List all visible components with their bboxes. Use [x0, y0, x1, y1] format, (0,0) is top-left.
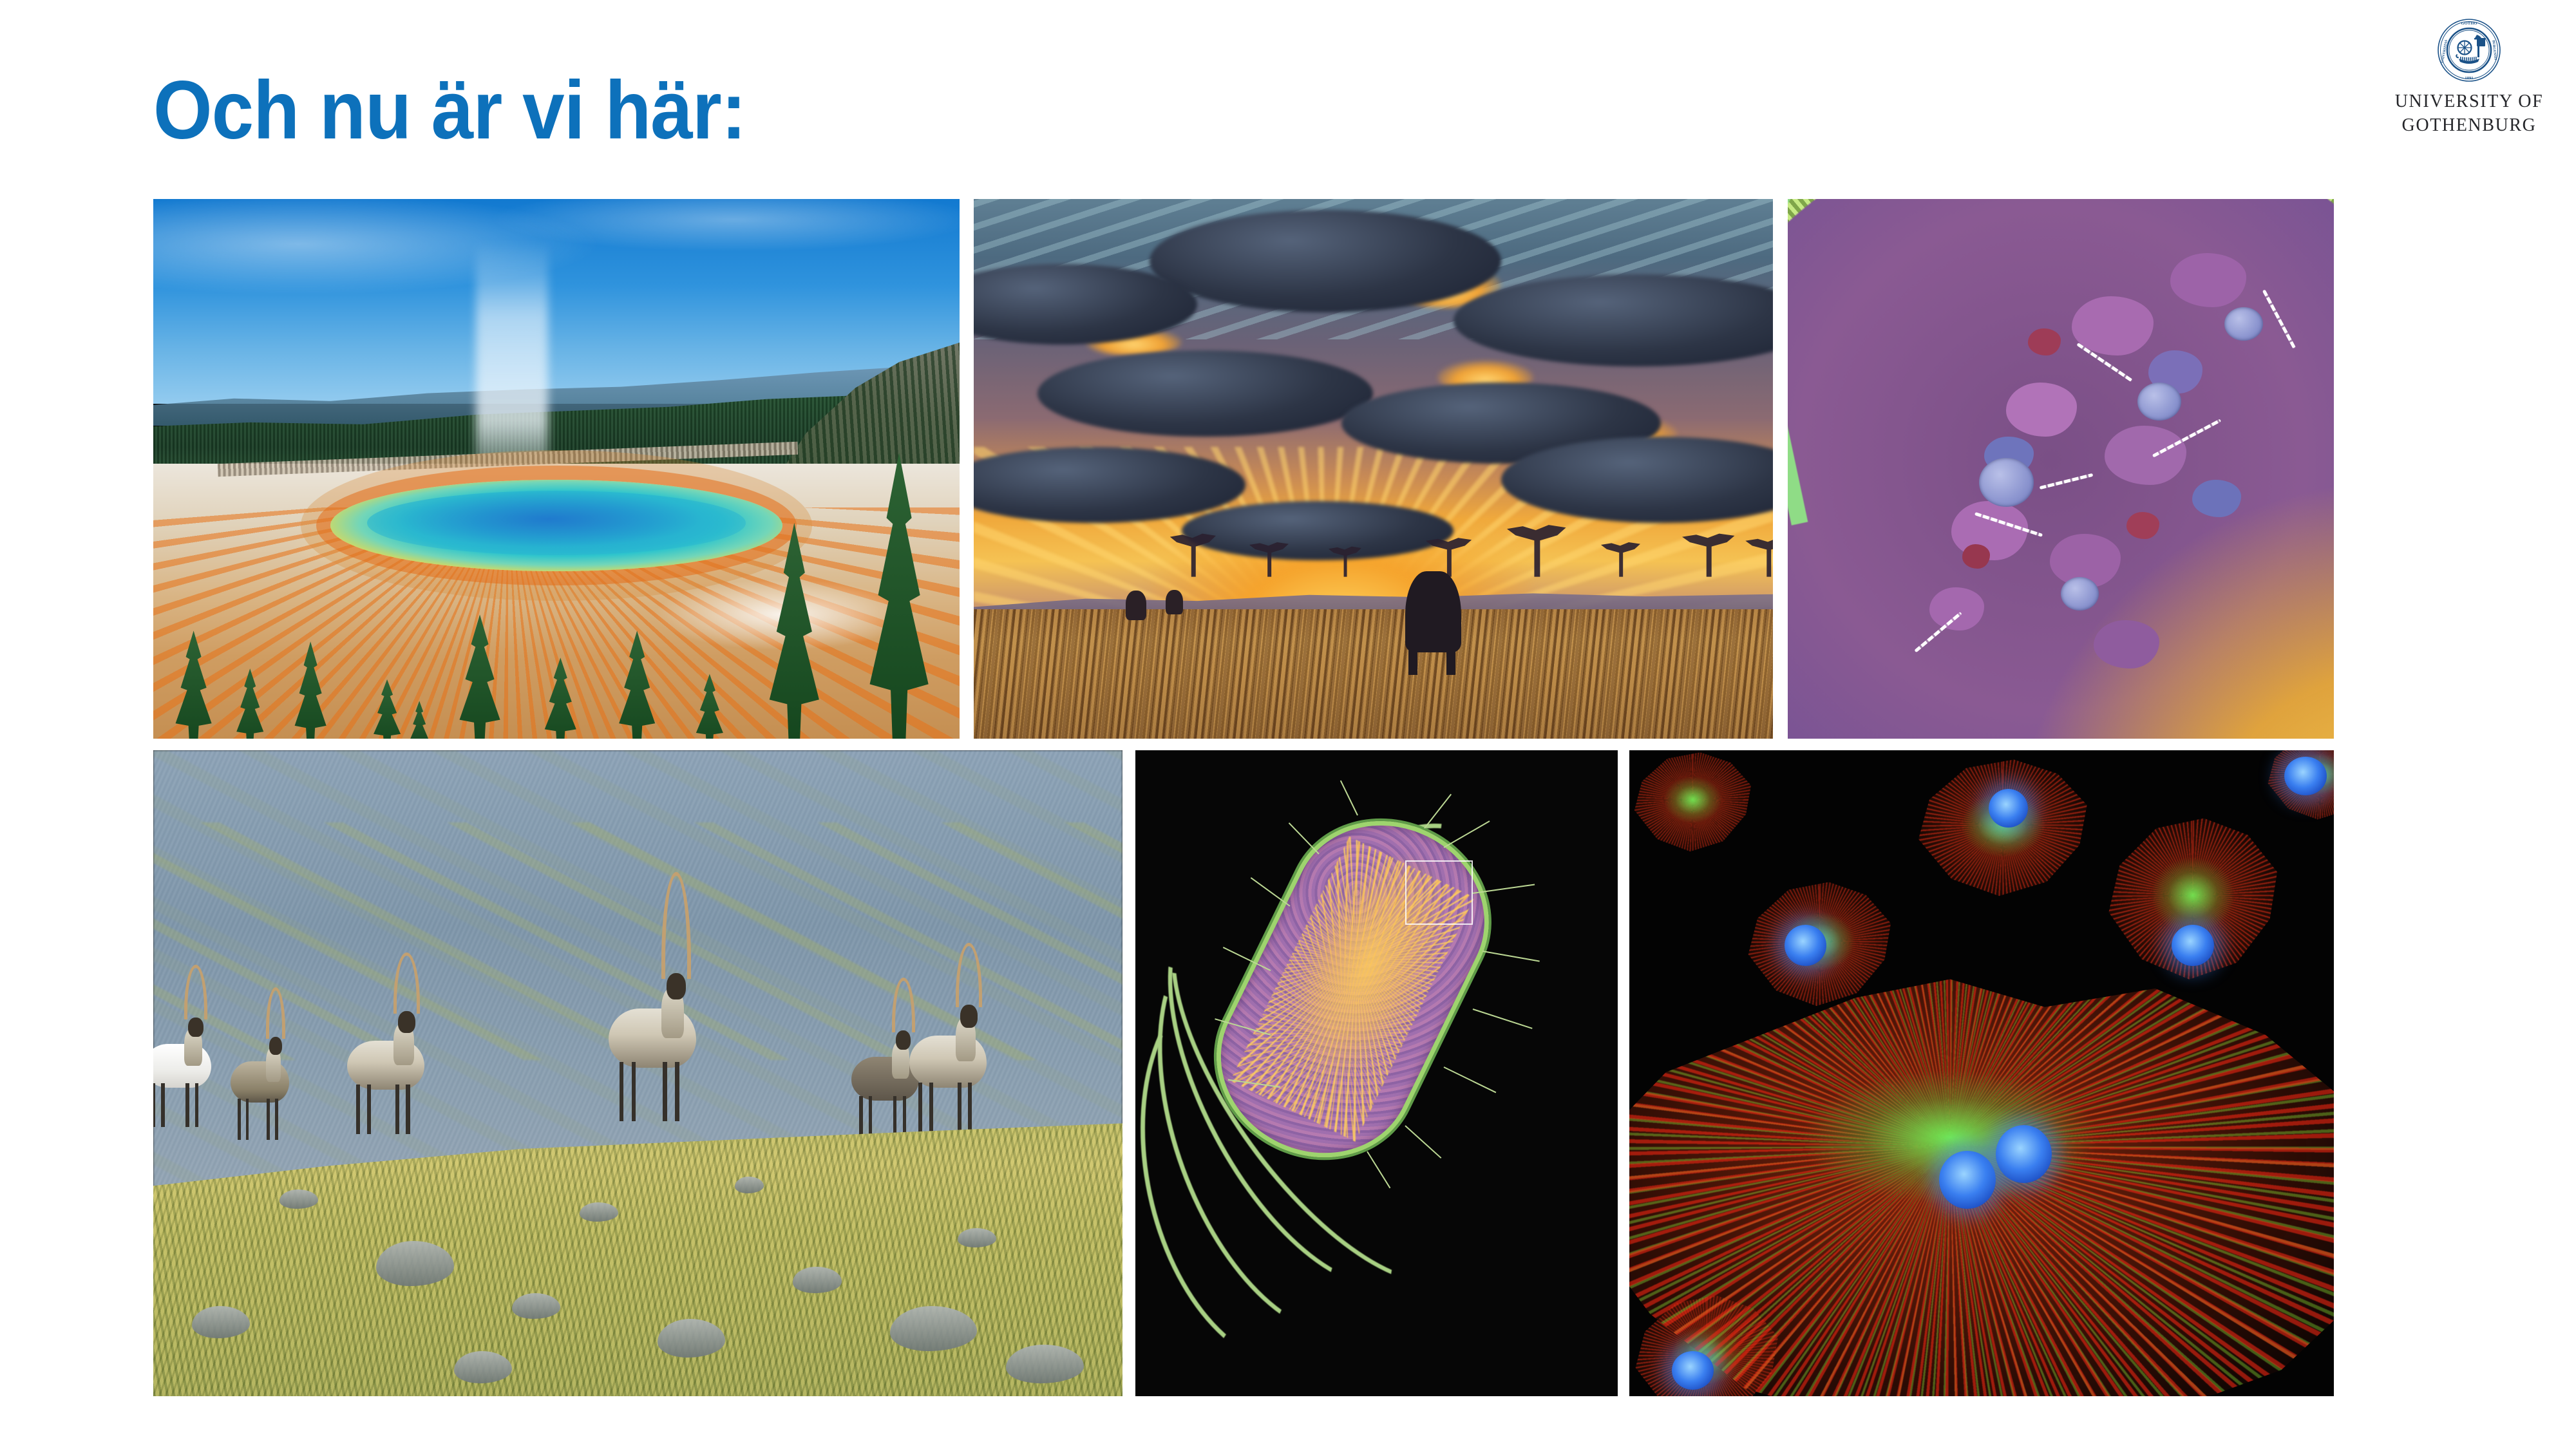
svg-text:· 1891 ·: · 1891 ·	[2463, 76, 2476, 80]
svg-text:· GOTHO ·: · GOTHO ·	[2459, 21, 2480, 26]
image-fluorescence-microscopy-cells	[1629, 750, 2334, 1396]
image-bacterial-cell-envelope-illustration	[1788, 199, 2334, 739]
image-african-savanna-sunset	[974, 199, 1773, 739]
svg-text:BURGENSIS: BURGENSIS	[2491, 40, 2497, 61]
university-logo: · GOTHO · · 1891 · UNIVERSITAS BURGENSIS…	[2362, 18, 2576, 179]
logo-wordmark-line2: GOTHENBURG	[2362, 114, 2576, 138]
image-grand-prismatic-spring	[153, 199, 960, 739]
highlight-box	[1405, 860, 1473, 925]
logo-wordmark-line1: UNIVERSITY OF	[2362, 90, 2576, 114]
image-reindeer-on-tundra	[153, 750, 1122, 1396]
page-title: Och nu är vi här:	[153, 70, 746, 152]
slide-canvas: Och nu är vi här: · GOTHO · · 1891 ·	[0, 0, 2576, 1449]
logo-wordmark: UNIVERSITY OF GOTHENBURG	[2362, 90, 2576, 138]
image-escherichia-coli-bacterium-illustration	[1135, 750, 1618, 1396]
university-seal-icon: · GOTHO · · 1891 · UNIVERSITAS BURGENSIS	[2437, 18, 2501, 82]
